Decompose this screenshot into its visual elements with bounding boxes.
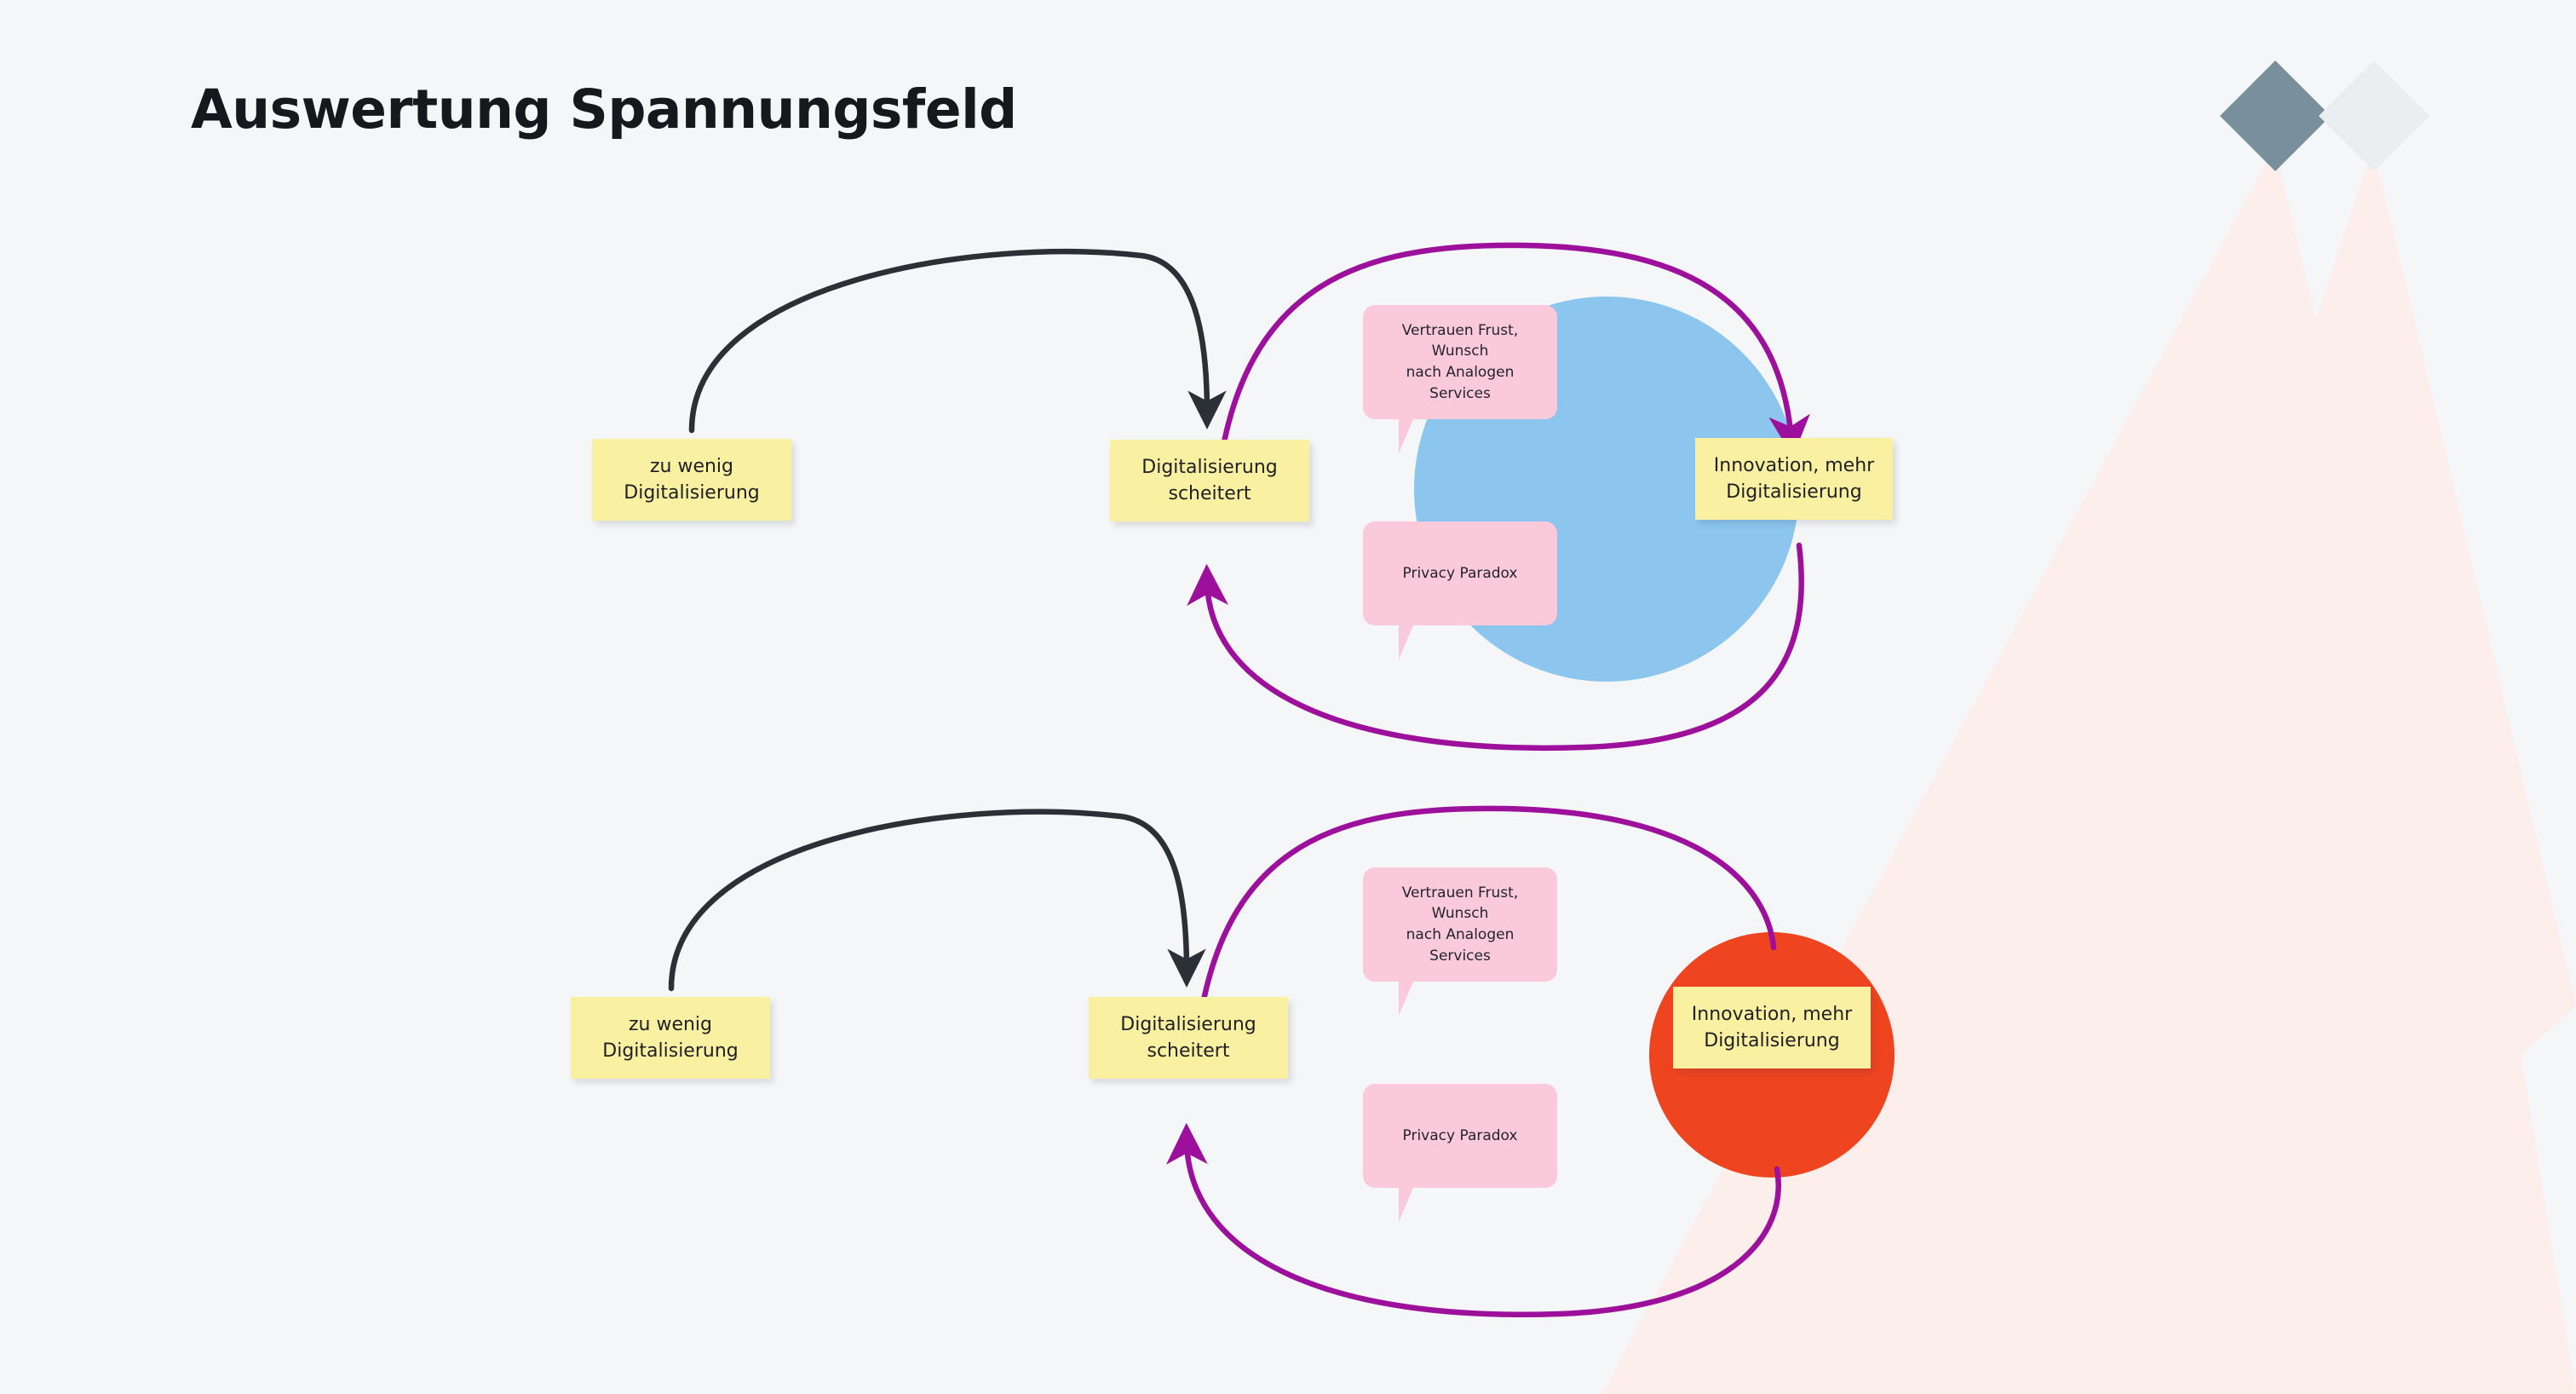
sticky-note-label: Digitalisierung scheitert [1141, 454, 1277, 507]
speech-bubble-top-privacy[interactable]: Privacy Paradox [1363, 521, 1557, 625]
sticky-note-top-failure[interactable]: Digitalisierung scheitert [1110, 440, 1309, 521]
canvas: Auswertung Spannungsfeld zu wenig Digita… [0, 0, 2576, 1394]
sticky-note-bottom-result[interactable]: Innovation, mehr Digitalisierung [1673, 987, 1871, 1069]
sticky-note-top-result[interactable]: Innovation, mehr Digitalisierung [1695, 438, 1893, 520]
speech-bubble-tail-icon [1399, 625, 1413, 660]
speech-bubble-bottom-privacy[interactable]: Privacy Paradox [1363, 1084, 1557, 1188]
speech-bubble-label: Vertrauen Frust, Wunsch nach Analogen Se… [1375, 320, 1545, 405]
sticky-note-label: Innovation, mehr Digitalisierung [1714, 452, 1874, 505]
sticky-note-label: zu wenig Digitalisierung [624, 453, 759, 506]
sticky-note-bottom-cause[interactable]: zu wenig Digitalisierung [571, 997, 770, 1079]
speech-bubble-label: Privacy Paradox [1403, 1126, 1518, 1147]
speech-bubble-tail-icon [1399, 1188, 1413, 1222]
sticky-note-bottom-failure[interactable]: Digitalisierung scheitert [1089, 997, 1288, 1079]
page-title: Auswertung Spannungsfeld [191, 78, 1017, 141]
speech-bubble-label: Privacy Paradox [1403, 563, 1518, 585]
sticky-note-label: zu wenig Digitalisierung [602, 1011, 738, 1064]
speech-bubble-top-trust[interactable]: Vertrauen Frust, Wunsch nach Analogen Se… [1363, 305, 1557, 419]
sticky-note-label: Innovation, mehr Digitalisierung [1692, 1001, 1852, 1054]
sticky-note-label: Digitalisierung scheitert [1120, 1011, 1256, 1064]
sticky-note-top-cause[interactable]: zu wenig Digitalisierung [592, 439, 791, 521]
speech-bubble-tail-icon [1399, 419, 1413, 453]
speech-bubble-label: Vertrauen Frust, Wunsch nach Analogen Se… [1375, 883, 1545, 967]
speech-bubble-bottom-trust[interactable]: Vertrauen Frust, Wunsch nach Analogen Se… [1363, 867, 1557, 982]
speech-bubble-tail-icon [1399, 982, 1413, 1016]
